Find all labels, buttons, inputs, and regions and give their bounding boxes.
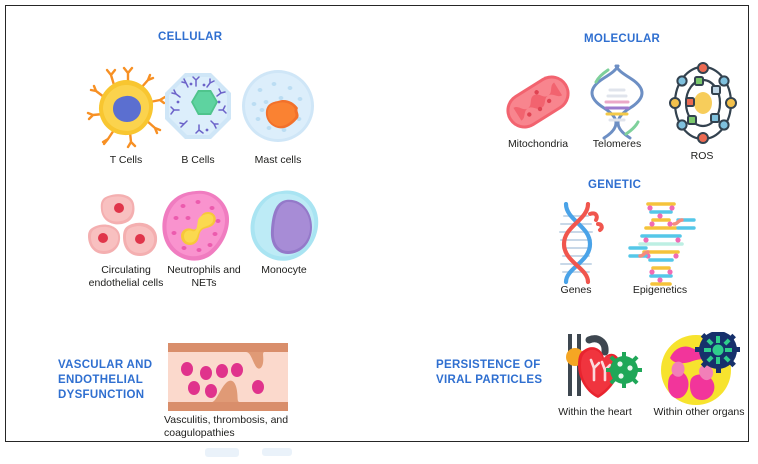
item-label-heart: Within the heart <box>548 406 642 419</box>
mast-cell-icon <box>236 64 320 148</box>
item-label-telomeres: Telomeres <box>574 138 660 151</box>
mitochondria-icon <box>502 62 574 142</box>
section-heading-viral-persistence: PERSISTENCE OF VIRAL PARTICLES <box>436 358 566 388</box>
item-label-other-organs: Within other organs <box>652 406 746 419</box>
atom-icon <box>664 62 742 144</box>
blood-vessel-icon <box>168 343 288 411</box>
item-label-mast-cells: Mast cells <box>228 154 328 167</box>
section-heading-cellular: CELLULAR <box>158 30 278 44</box>
item-label-genes: Genes <box>536 284 616 297</box>
t-cell-icon <box>84 66 168 150</box>
b-cell-icon <box>158 66 238 146</box>
item-label-monocyte: Monocyte <box>238 264 330 277</box>
item-label-ros: ROS <box>656 150 748 163</box>
section-heading-genetic: GENETIC <box>588 178 728 192</box>
section-heading-molecular: MOLECULAR <box>584 32 734 46</box>
item-label-mitochondria: Mitochondria <box>488 138 588 151</box>
neutrophil-icon <box>158 188 236 264</box>
dna-strand-icon <box>546 202 606 286</box>
epigenetics-icon <box>626 198 698 290</box>
scan-artifact-right <box>262 448 292 456</box>
monocyte-icon <box>246 188 322 264</box>
section-heading-vascular: VASCULAR AND ENDOTHELIAL DYSFUNCTION <box>58 358 176 403</box>
diagram-frame: CELLULAR T Cells <box>5 5 749 442</box>
scan-artifact-left <box>205 448 239 457</box>
dna-helix-icon <box>586 62 648 142</box>
item-label-vasculitis: Vasculitis, thrombosis, and coagulopathi… <box>164 414 298 439</box>
organs-virus-icon <box>658 332 740 408</box>
item-label-epigenetics: Epigenetics <box>612 284 708 297</box>
endothelial-cells-icon <box>86 190 166 262</box>
heart-virus-icon <box>558 332 642 408</box>
